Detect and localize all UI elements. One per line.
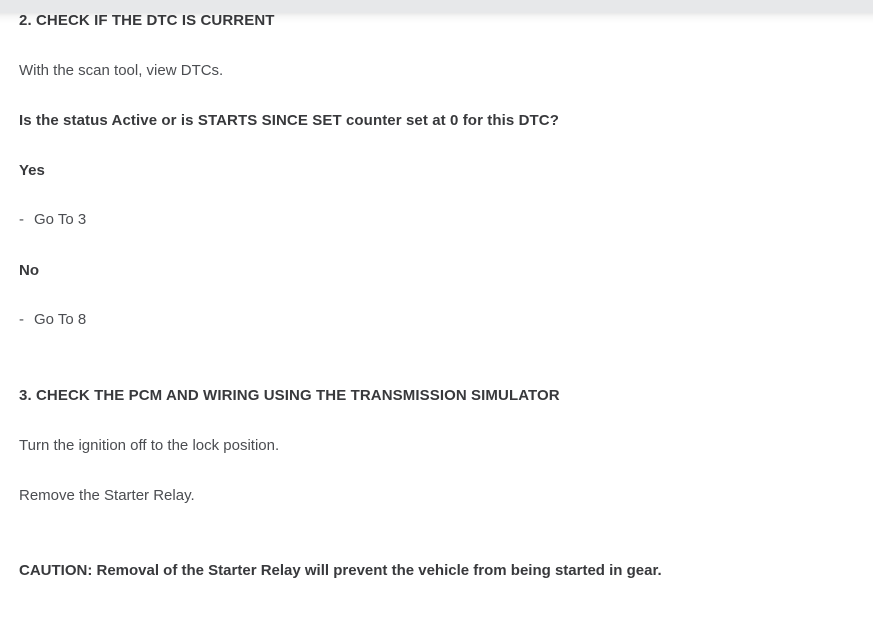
step-3-heading: 3. CHECK THE PCM AND WIRING USING THE TR… (19, 387, 560, 404)
step-3-instruction-2: Remove the Starter Relay. (19, 487, 195, 504)
step-2-heading: 2. CHECK IF THE DTC IS CURRENT (19, 12, 275, 29)
dash-bullet-icon: - (19, 311, 34, 328)
goto-link-label[interactable]: Go To 3 (34, 211, 86, 228)
step-2-question: Is the status Active or is STARTS SINCE … (19, 112, 559, 129)
clipped-previous-heading: 1. VERIFY THE CUSTOMER CONCERN (19, 0, 296, 3)
answer-label-no: No (19, 262, 39, 279)
goto-item-3[interactable]: -Go To 3 (19, 211, 86, 228)
step-2-instruction: With the scan tool, view DTCs. (19, 62, 223, 79)
step-3-caution-notice: CAUTION: Removal of the Starter Relay wi… (19, 562, 662, 579)
sticky-section-header: 1. VERIFY THE CUSTOMER CONCERN (0, 0, 873, 13)
answer-label-yes: Yes (19, 162, 45, 179)
goto-item-8[interactable]: -Go To 8 (19, 311, 86, 328)
step-3-instruction-1: Turn the ignition off to the lock positi… (19, 437, 279, 454)
dash-bullet-icon: - (19, 211, 34, 228)
goto-link-label[interactable]: Go To 8 (34, 311, 86, 328)
